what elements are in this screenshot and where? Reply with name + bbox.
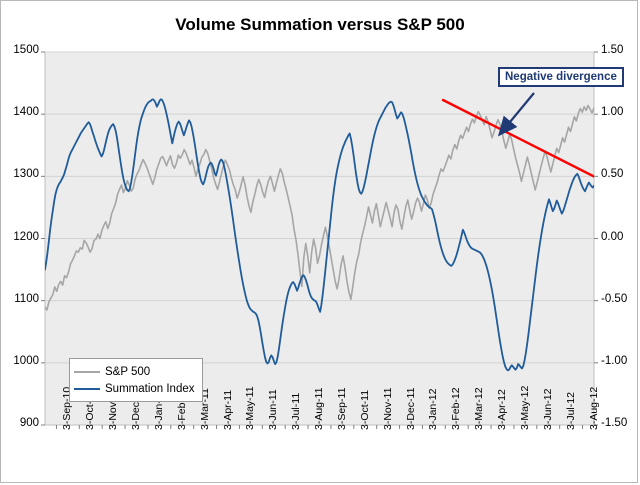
- x-axis-tick-label: 3-Aug-11: [313, 388, 325, 430]
- chart-legend: S&P 500 Summation Index: [69, 358, 203, 402]
- x-axis-tick-label: 3-Jul-11: [290, 393, 302, 430]
- y-axis-left-tick-label: 1200: [1, 231, 39, 243]
- y-axis-right-tick-label: 1.00: [601, 106, 640, 118]
- y-axis-left-tick-label: 900: [1, 417, 39, 429]
- y-axis-left-tick-label: 1500: [1, 44, 39, 56]
- negative-divergence-annotation: Negative divergence: [498, 67, 624, 87]
- y-axis-right-tick-label: 1.50: [601, 44, 640, 56]
- legend-swatch-summation-index: [74, 388, 100, 390]
- x-axis-tick-label: 3-Mar-12: [473, 387, 485, 430]
- x-axis-tick-label: 3-Jul-12: [565, 392, 577, 430]
- legend-label-sp-500: S&P 500: [105, 366, 150, 378]
- x-axis-tick-label: 3-Apr-12: [496, 389, 508, 430]
- x-axis-tick-label: 3-Sep-11: [336, 388, 348, 430]
- x-axis-tick-label: 3-Jun-12: [542, 389, 554, 430]
- x-axis-tick-label: 3-Nov-11: [382, 388, 394, 430]
- x-axis-tick-label: 3-Feb-12: [450, 387, 462, 430]
- y-axis-left-tick-label: 1100: [1, 293, 39, 305]
- y-axis-right-tick-label: -1.00: [601, 355, 640, 367]
- y-axis-left-tick-label: 1300: [1, 168, 39, 180]
- x-axis-tick-label: 3-Aug-12: [588, 387, 600, 430]
- y-axis-right-tick-label: 0.50: [601, 168, 640, 180]
- x-axis-tick-label: 3-May-11: [244, 386, 256, 430]
- x-axis-tick-label: 3-May-12: [519, 386, 531, 430]
- y-axis-right-tick-label: -1.50: [601, 417, 640, 429]
- y-axis-left-tick-label: 1000: [1, 355, 39, 367]
- x-axis-tick-label: 3-Dec-11: [405, 388, 417, 430]
- x-axis-tick-label: 3-Jun-11: [267, 389, 279, 430]
- y-axis-right-tick-label: -0.50: [601, 293, 640, 305]
- y-axis-right-tick-label: 0.00: [601, 231, 640, 243]
- x-axis-tick-label: 3-Oct-11: [359, 390, 371, 430]
- chart-frame: Volume Summation versus S&P 500 15001400…: [0, 0, 638, 483]
- legend-label-summation-index: Summation Index: [105, 383, 195, 395]
- legend-item-summation-index: Summation Index: [74, 380, 195, 397]
- y-axis-left-tick-label: 1400: [1, 106, 39, 118]
- legend-item-sp-500: S&P 500: [74, 363, 195, 380]
- legend-swatch-sp-500: [74, 371, 100, 373]
- x-axis-tick-label: 3-Jan-12: [427, 389, 439, 430]
- x-axis-tick-label: 3-Apr-11: [222, 390, 234, 430]
